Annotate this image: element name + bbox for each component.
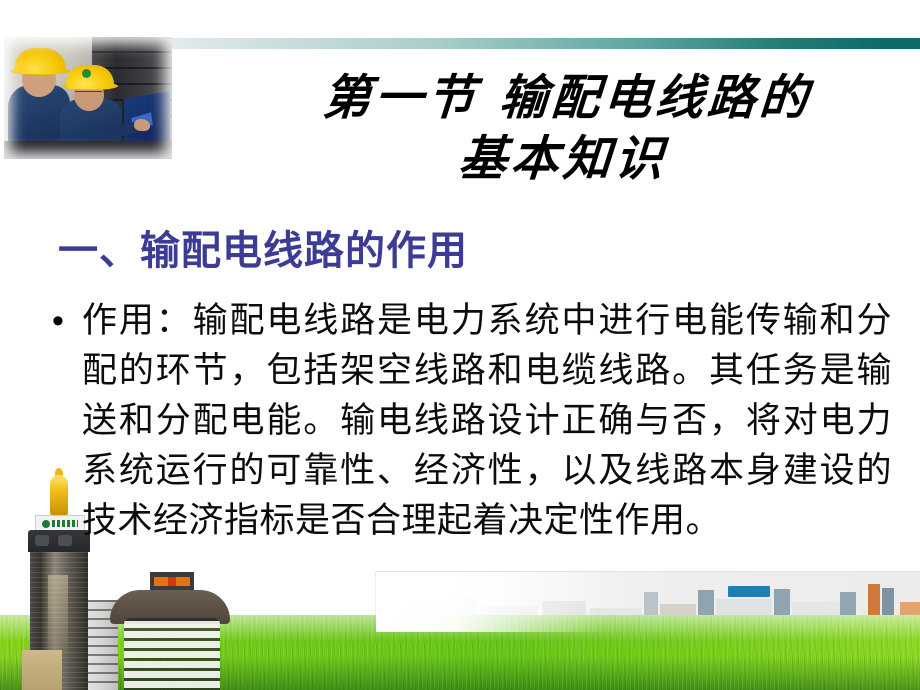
- drum-building: [110, 572, 230, 690]
- campus-sign: [728, 586, 770, 597]
- worker-one-helmet: [14, 48, 66, 74]
- slide-canvas: 第一节 输配电线路的 基本知识 一、输配电线路的作用 • 作用：输配电线路是电力…: [0, 0, 920, 690]
- tower-roof-vent-left: [35, 535, 49, 546]
- tower-facade-reflection: [48, 575, 68, 655]
- body-paragraph: 作用：输配电线路是电力系统中进行电能传输和分配的环节，包括架空线路和电缆线路。其…: [82, 296, 892, 546]
- slide-title: 第一节 输配电线路的 基本知识: [221, 68, 910, 191]
- desk-surface: [4, 141, 172, 159]
- worker-two-helmet: [66, 65, 114, 89]
- pointing-hand: [134, 119, 150, 131]
- skyline-left-fade: [376, 572, 606, 632]
- slide-title-line2: 基本知识: [221, 129, 905, 190]
- bullet-list-item: • 作用：输配电线路是电力系统中进行电能传输和分配的环节，包括架空线路和电缆线路…: [52, 296, 892, 546]
- drum-facade: [124, 618, 220, 690]
- worker-two-glasses: [75, 91, 102, 98]
- tower-base: [22, 650, 62, 690]
- body-content: • 作用：输配电线路是电力系统中进行电能传输和分配的环节，包括架空线路和电缆线路…: [52, 296, 892, 546]
- tower-logo-icon: [42, 520, 50, 528]
- helmet-logo-icon: [82, 69, 91, 78]
- drum-led-sign: [154, 577, 190, 586]
- header-accent-bar: [150, 38, 920, 49]
- bullet-point-icon: •: [52, 296, 82, 346]
- section-subheading: 一、输配电线路的作用: [58, 218, 468, 276]
- workers-photo: [4, 37, 172, 159]
- slide-title-line1: 第一节 输配电线路的: [321, 70, 814, 126]
